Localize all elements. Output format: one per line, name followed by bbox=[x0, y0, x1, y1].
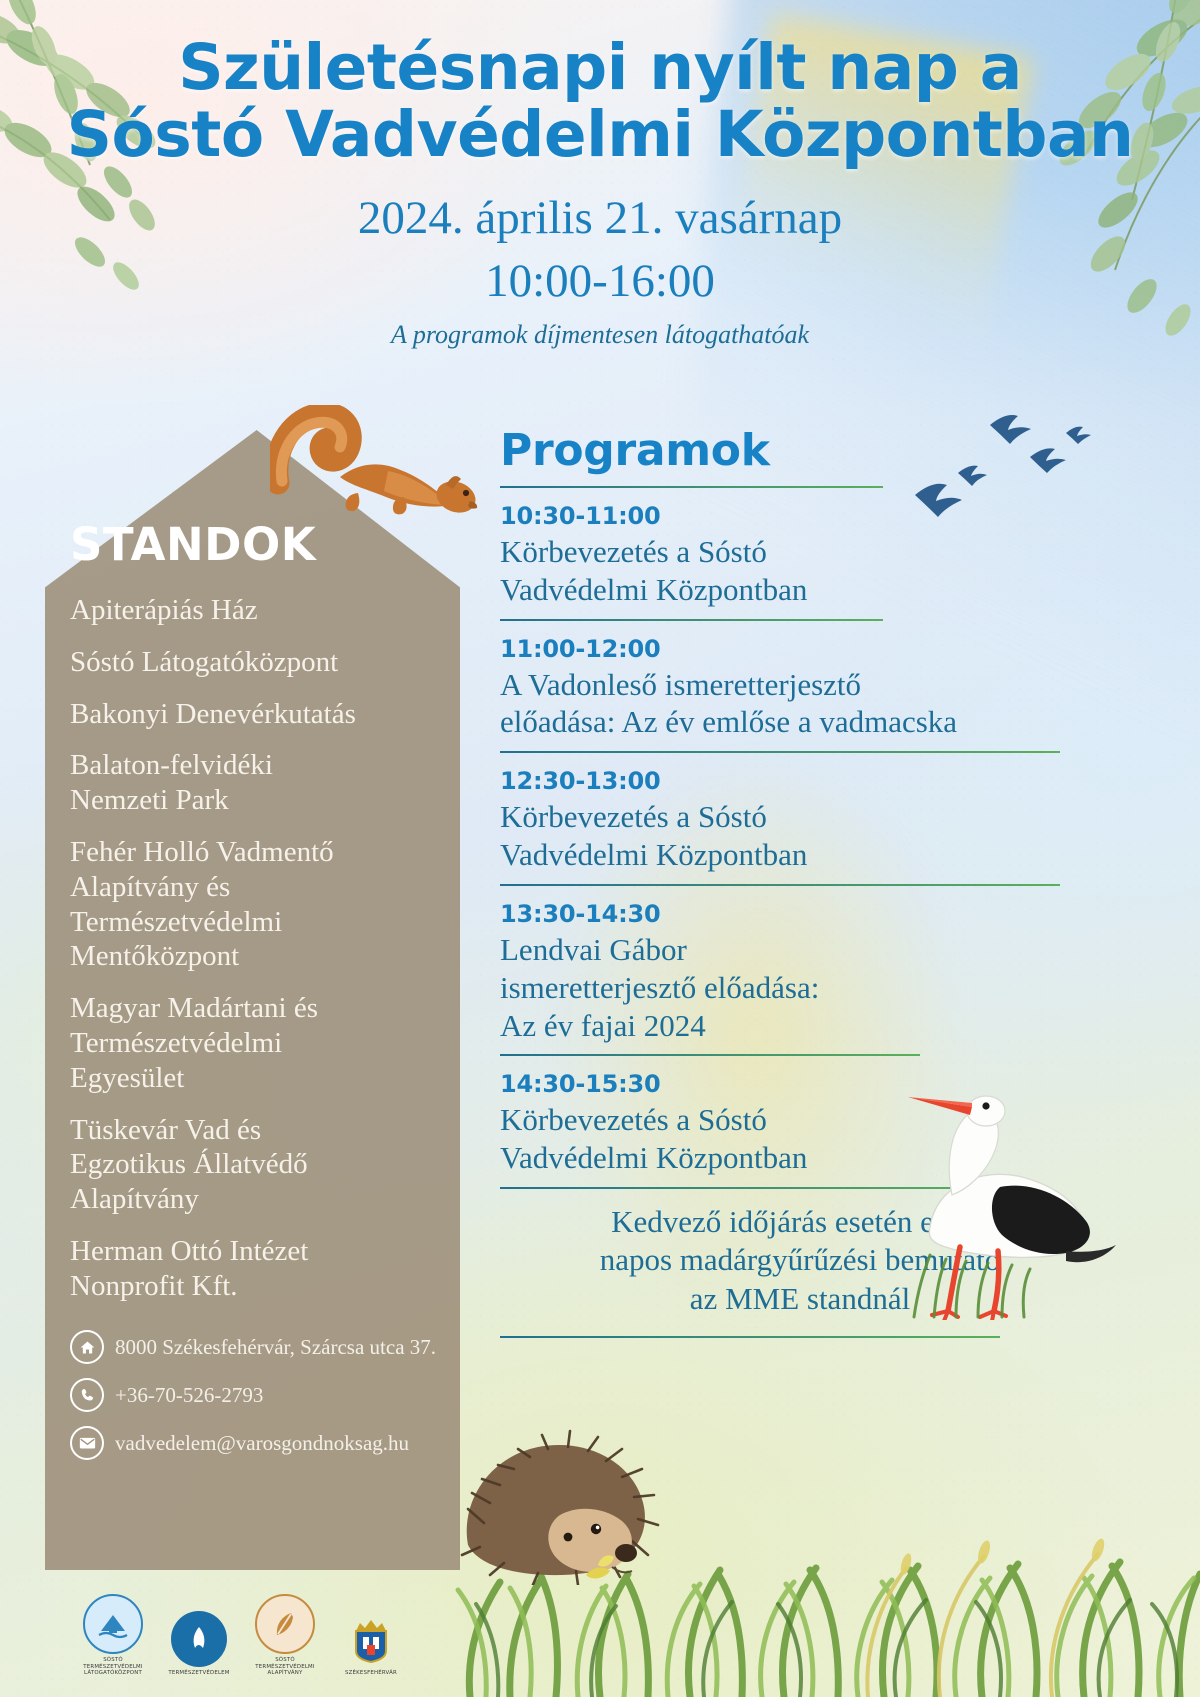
program-time: 11:00-12:00 bbox=[500, 635, 1100, 663]
title-line-1: Születésnapi nyílt nap a bbox=[178, 31, 1022, 104]
city-coat-of-arms-icon bbox=[350, 1615, 392, 1663]
logo-caption: TERMÉSZETVÉDELEM bbox=[168, 1670, 230, 1677]
program-time: 10:30-11:00 bbox=[500, 502, 1100, 530]
divider bbox=[500, 1336, 1000, 1338]
logo-bar: SÓSTÓ TERMÉSZETVÉDELMI LÁTOGATÓKÖZPONT T… bbox=[82, 1594, 402, 1677]
feather-icon bbox=[271, 1609, 299, 1639]
page-title: Születésnapi nyílt nap a Sóstó Vadvédelm… bbox=[0, 34, 1200, 169]
stands-title: STANDOK bbox=[70, 518, 438, 571]
stand-item: Tüskevár Vad és Egzotikus Állatvédő Alap… bbox=[70, 1113, 438, 1217]
phone-icon bbox=[70, 1378, 104, 1412]
program-item: 13:30-14:30 Lendvai Gábor ismeretterjesz… bbox=[500, 900, 1100, 1044]
event-date: 2024. április 21. vasárnap bbox=[0, 191, 1200, 246]
logo-badge bbox=[171, 1611, 227, 1667]
logo-caption: SÓSTÓ TERMÉSZETVÉDELMI ALAPÍTVÁNY bbox=[254, 1657, 316, 1677]
mail-icon bbox=[70, 1426, 104, 1460]
program-time: 13:30-14:30 bbox=[500, 900, 1100, 928]
logo-badge bbox=[343, 1611, 399, 1667]
contact-address-row: 8000 Székesfehérvár, Szárcsa utca 37. bbox=[70, 1330, 446, 1364]
program-time: 12:30-13:00 bbox=[500, 767, 1100, 795]
logo-termeszetvedelem: TERMÉSZETVÉDELEM bbox=[168, 1611, 230, 1677]
stork-illustration bbox=[890, 1055, 1120, 1320]
divider bbox=[500, 486, 883, 488]
program-description: A Vadonleső ismeretterjesztő előadása: A… bbox=[500, 666, 1100, 742]
contact-phone-row: +36-70-526-2793 bbox=[70, 1378, 446, 1412]
title-line-2: Sóstó Vadvédelmi Központban bbox=[67, 98, 1134, 171]
program-item: 11:00-12:00 A Vadonleső ismeretterjesztő… bbox=[500, 635, 1100, 742]
stand-item: Balaton-felvidéki Nemzeti Park bbox=[70, 748, 438, 818]
stand-item: Apiterápiás Ház bbox=[70, 593, 438, 628]
contact-block: 8000 Székesfehérvár, Szárcsa utca 37. +3… bbox=[70, 1330, 446, 1474]
contact-address: 8000 Székesfehérvár, Szárcsa utca 37. bbox=[115, 1335, 436, 1360]
stand-item: Herman Ottó Intézet Nonprofit Kft. bbox=[70, 1234, 438, 1304]
hedgehog-illustration bbox=[450, 1395, 660, 1585]
visitor-center-icon bbox=[97, 1609, 129, 1639]
divider bbox=[500, 1054, 920, 1056]
program-description: Lendvai Gábor ismeretterjesztő előadása:… bbox=[500, 931, 1100, 1044]
event-note: A programok díjmentesen látogathatóak bbox=[0, 320, 1200, 350]
logo-badge bbox=[255, 1594, 315, 1654]
stand-item: Fehér Holló Vadmentő Alapítvány és Termé… bbox=[70, 835, 438, 974]
stand-item: Sóstó Látogatóközpont bbox=[70, 645, 438, 680]
squirrel-illustration bbox=[270, 405, 490, 515]
logo-szekesfehervar: SZÉKESFEHÉRVÁR bbox=[340, 1611, 402, 1677]
contact-email: vadvedelem@varosgondnoksag.hu bbox=[115, 1431, 409, 1456]
program-item: 12:30-13:00 Körbevezetés a Sóstó Vadvéde… bbox=[500, 767, 1100, 874]
poster-canvas: Születésnapi nyílt nap a Sóstó Vadvédelm… bbox=[0, 0, 1200, 1697]
contact-phone: +36-70-526-2793 bbox=[115, 1383, 263, 1408]
stand-item: Magyar Madártani és Természetvédelmi Egy… bbox=[70, 991, 438, 1095]
programs-title: Programok bbox=[500, 425, 1100, 476]
stand-item: Bakonyi Denevérkutatás bbox=[70, 697, 438, 732]
divider bbox=[500, 751, 1060, 753]
bird-shield-icon bbox=[186, 1624, 212, 1654]
program-item: 10:30-11:00 Körbevezetés a Sóstó Vadvéde… bbox=[500, 502, 1100, 609]
logo-sosto-latogatokozpont: SÓSTÓ TERMÉSZETVÉDELMI LÁTOGATÓKÖZPONT bbox=[82, 1594, 144, 1677]
program-description: Körbevezetés a Sóstó Vadvédelmi Központb… bbox=[500, 798, 1100, 874]
home-icon bbox=[70, 1330, 104, 1364]
logo-sosto-alapitvany: SÓSTÓ TERMÉSZETVÉDELMI ALAPÍTVÁNY bbox=[254, 1594, 316, 1677]
contact-email-row: vadvedelem@varosgondnoksag.hu bbox=[70, 1426, 446, 1460]
stands-panel: STANDOK Apiterápiás Ház Sóstó Látogatókö… bbox=[45, 430, 460, 1570]
program-description: Körbevezetés a Sóstó Vadvédelmi Központb… bbox=[500, 533, 1100, 609]
logo-caption: SZÉKESFEHÉRVÁR bbox=[340, 1670, 402, 1677]
divider bbox=[500, 884, 1060, 886]
poster-header: Születésnapi nyílt nap a Sóstó Vadvédelm… bbox=[0, 34, 1200, 350]
logo-caption: SÓSTÓ TERMÉSZETVÉDELMI LÁTOGATÓKÖZPONT bbox=[82, 1657, 144, 1677]
event-time: 10:00-16:00 bbox=[0, 254, 1200, 308]
divider bbox=[500, 619, 883, 621]
logo-badge bbox=[83, 1594, 143, 1654]
